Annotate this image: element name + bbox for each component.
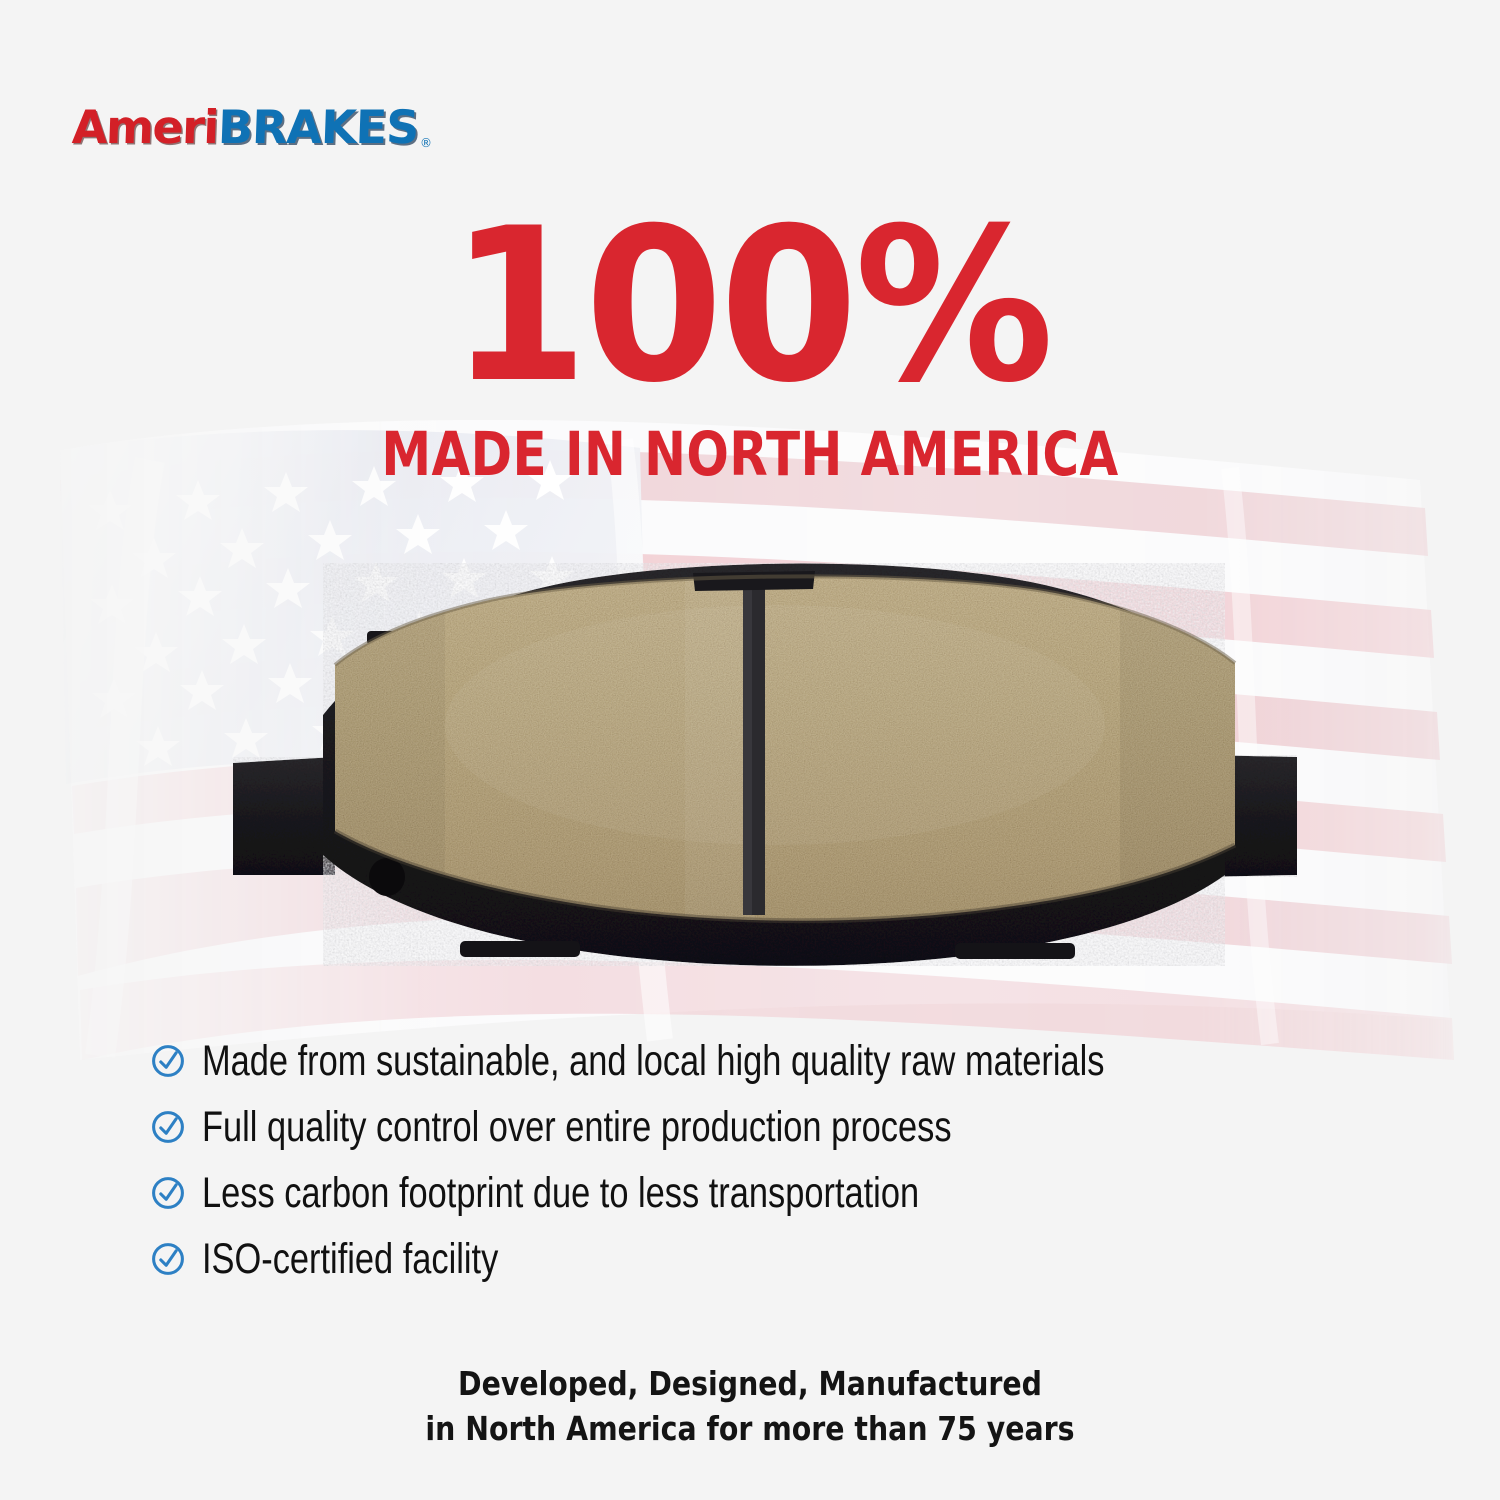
list-item: ISO-certified facility [150,1233,1400,1285]
headline-block: 100% MADE IN NORTH AMERICA [0,205,1500,485]
list-item: Made from sustainable, and local high qu… [150,1035,1400,1087]
footer-line-1: Developed, Designed, Manufactured [105,1362,1395,1407]
page-title: 100% [45,205,1455,406]
headline-subtitle: MADE IN NORTH AMERICA [135,424,1365,485]
list-item: Full quality control over entire product… [150,1101,1400,1153]
logo-text-ameri: Ameri [71,100,219,154]
registered-trademark-icon: ® [420,136,432,150]
footer-block: Developed, Designed, Manufactured in Nor… [0,1362,1500,1451]
list-item: Less carbon footprint due to less transp… [150,1167,1400,1219]
footer-line-2: in North America for more than 75 years [105,1407,1395,1452]
brand-logo[interactable]: AmeriBRAKES® [72,100,431,154]
check-circle-icon [150,1241,186,1277]
check-circle-icon [150,1043,186,1079]
feature-list: Made from sustainable, and local high qu… [150,1035,1400,1299]
list-item-label: Full quality control over entire product… [202,1106,952,1149]
list-item-label: ISO-certified facility [202,1238,498,1281]
brake-pad-image [215,545,1315,995]
list-item-label: Less carbon footprint due to less transp… [202,1172,919,1215]
check-circle-icon [150,1175,186,1211]
logo-text-brakes: BRAKES [217,100,419,154]
check-circle-icon [150,1109,186,1145]
promo-poster: AmeriBRAKES® 100% MADE IN NORTH AMERICA [0,0,1500,1500]
brake-pad-svg [215,545,1315,995]
list-item-label: Made from sustainable, and local high qu… [202,1040,1105,1083]
